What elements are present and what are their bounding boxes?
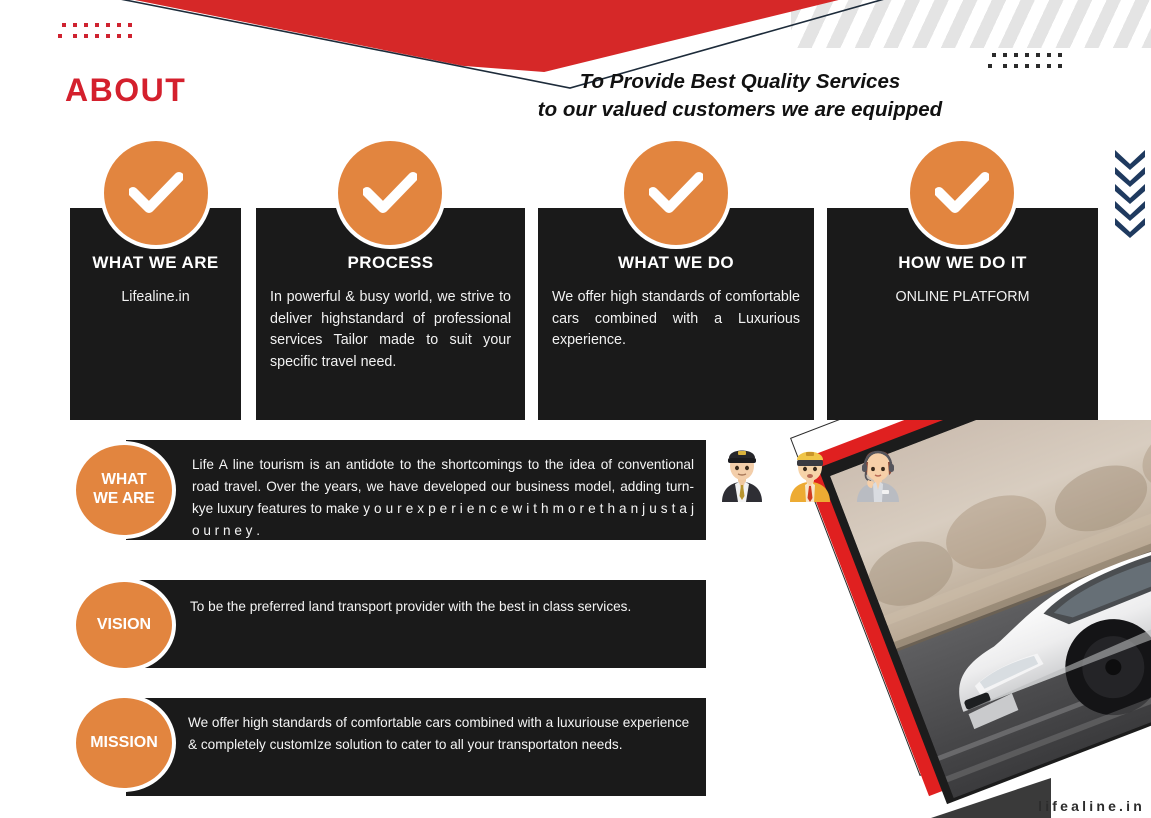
info-pill-text: To be the preferred land transport provi… [190,596,694,618]
info-pill-label-what-we-are: WHAT WE ARE [72,441,176,539]
feature-card-body: In powerful & busy world, we strive to d… [270,287,511,374]
check-icon [363,172,417,214]
feature-card-badge-2 [334,137,446,249]
info-pill-label-line-1: VISION [97,615,151,634]
feature-card-badge-3 [620,137,732,249]
check-icon [935,172,989,214]
info-pill-label-line-2: WE ARE [93,490,154,509]
feature-card-badge-1 [100,137,212,249]
feature-card-title: HOW WE DO IT [841,253,1084,273]
driver-yellow-uniform-avatar [784,440,836,502]
feature-card-body: We offer high standards of comfortable c… [552,287,800,352]
check-icon [129,172,183,214]
about-page: ABOUT To Provide Best Quality Services t… [0,0,1151,818]
feature-card-badge-4 [906,137,1018,249]
feature-card-body: Lifealine.in [84,287,227,309]
feature-card-title: PROCESS [270,253,511,273]
feature-card-title: WHAT WE DO [552,253,800,273]
support-agent-headset-avatar [852,440,904,502]
chauffeur-dark-suit-avatar [716,440,768,502]
feature-card-body: ONLINE PLATFORM [841,287,1084,309]
info-pill-what-we-are[interactable]: Life A line tourism is an antidote to th… [126,440,706,540]
staff-avatar-group [716,440,904,502]
info-pill-mission[interactable]: We offer high standards of comfortable c… [126,698,706,796]
info-pill-label-line-1: MISSION [90,733,158,752]
info-pill-text: Life A line tourism is an antidote to th… [192,454,694,542]
feature-card-group: WHAT WE ARE Lifealine.in PROCESS In powe… [0,0,1151,430]
info-pill-text: We offer high standards of comfortable c… [188,712,694,756]
info-pill-label-line-1: WHAT [93,471,154,490]
info-pill-label-vision: VISION [72,578,176,672]
feature-card-title: WHAT WE ARE [84,253,227,273]
footer-brand: lifealine.in [1038,798,1145,814]
info-pill-label-mission: MISSION [72,694,176,792]
check-icon [649,172,703,214]
info-pill-vision[interactable]: To be the preferred land transport provi… [126,580,706,668]
